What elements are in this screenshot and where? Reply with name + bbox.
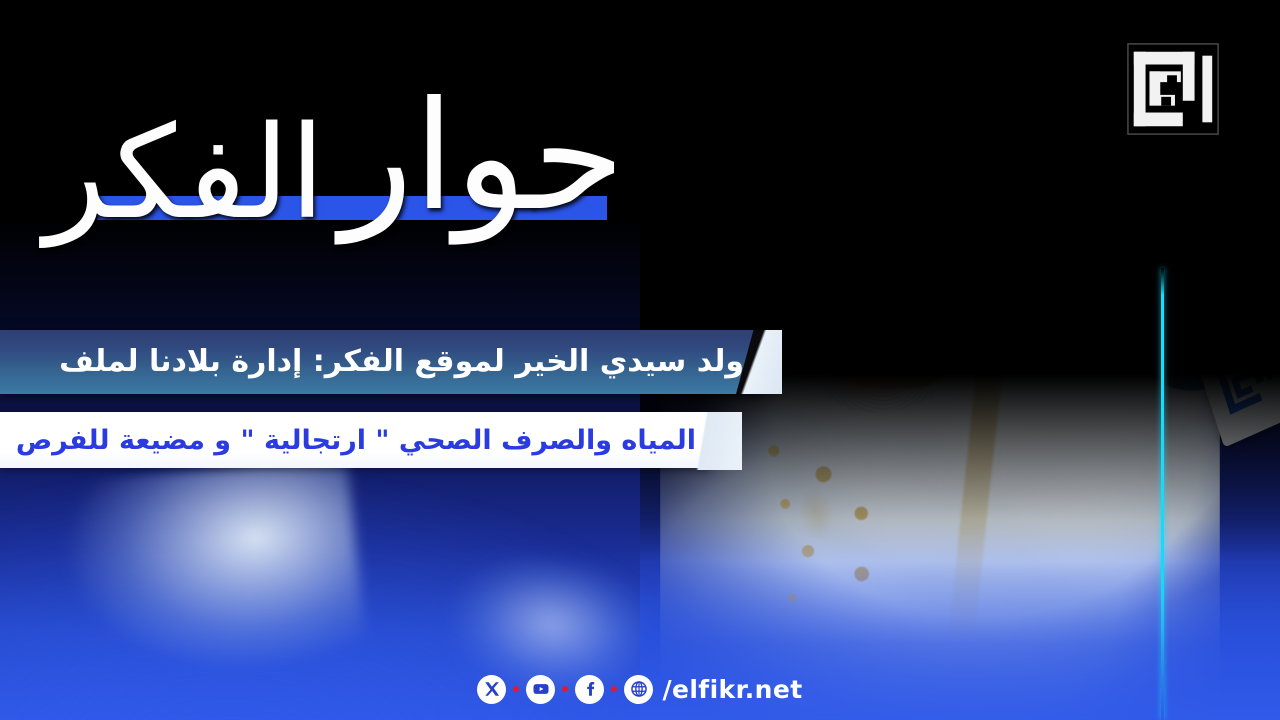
chin (820, 358, 916, 402)
social-links: /elfikr.net (477, 675, 802, 704)
footer-bar: /elfikr.net (0, 658, 1280, 720)
website-url[interactable]: /elfikr.net (662, 675, 802, 704)
headline-bar-secondary: المياه والصرف الصحي " ارتجالية " و مضيعة… (0, 412, 710, 468)
program-logo-glyphs: حوار الفكر (55, 88, 625, 268)
elfikr-logo-badge (1124, 40, 1222, 138)
facebook-icon[interactable] (575, 675, 604, 704)
separator-dot (562, 686, 568, 692)
program-logo-word-fikr: الفكر (44, 110, 325, 238)
microphone (1130, 278, 1280, 488)
separator-dot (513, 686, 519, 692)
website-globe-icon[interactable] (624, 675, 653, 704)
x-twitter-icon[interactable] (477, 675, 506, 704)
program-logo-word-hiwar: حوار (341, 82, 625, 232)
separator-dot (611, 686, 617, 692)
youtube-icon[interactable] (526, 675, 555, 704)
cyan-accent-line (1161, 268, 1164, 720)
headline-line-1: ولد سيدي الخير لموقع الفكر: إدارة بلادنا… (59, 347, 744, 377)
headline-bar-primary: ولد سيدي الخير لموقع الفكر: إدارة بلادنا… (0, 330, 762, 394)
microphone-logo-icon (1213, 344, 1280, 419)
program-logo: حوار الفكر (55, 88, 625, 268)
headline-line-2: المياه والصرف الصحي " ارتجالية " و مضيعة… (16, 427, 696, 454)
gold-stripe (1030, 314, 1120, 369)
poster-canvas: حوار الفكر ولد سيدي الخير لموقع الفكر: إ… (0, 0, 1280, 720)
